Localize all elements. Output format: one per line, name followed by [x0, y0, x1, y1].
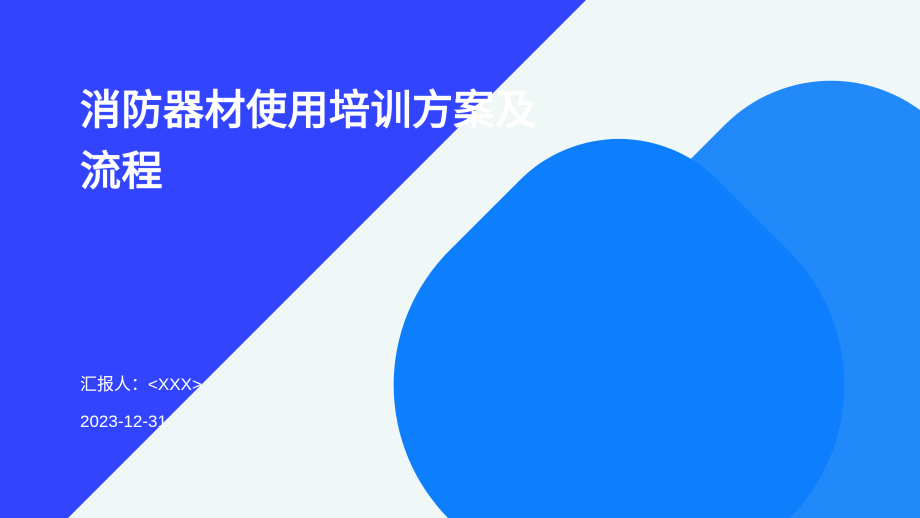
page-title: 消防器材使用培训方案及流程 — [80, 80, 550, 201]
presentation-date: 2023-12-31 — [80, 413, 500, 430]
presenter-block: 汇报人：<XXX> 2023-12-31 — [80, 376, 500, 430]
slide-content: 消防器材使用培训方案及流程 汇报人：<XXX> 2023-12-31 — [0, 0, 920, 518]
title-block: 消防器材使用培训方案及流程 — [80, 80, 550, 201]
presenter-label: 汇报人：<XXX> — [80, 376, 500, 393]
title-slide: 消防器材使用培训方案及流程 汇报人：<XXX> 2023-12-31 — [0, 0, 920, 518]
